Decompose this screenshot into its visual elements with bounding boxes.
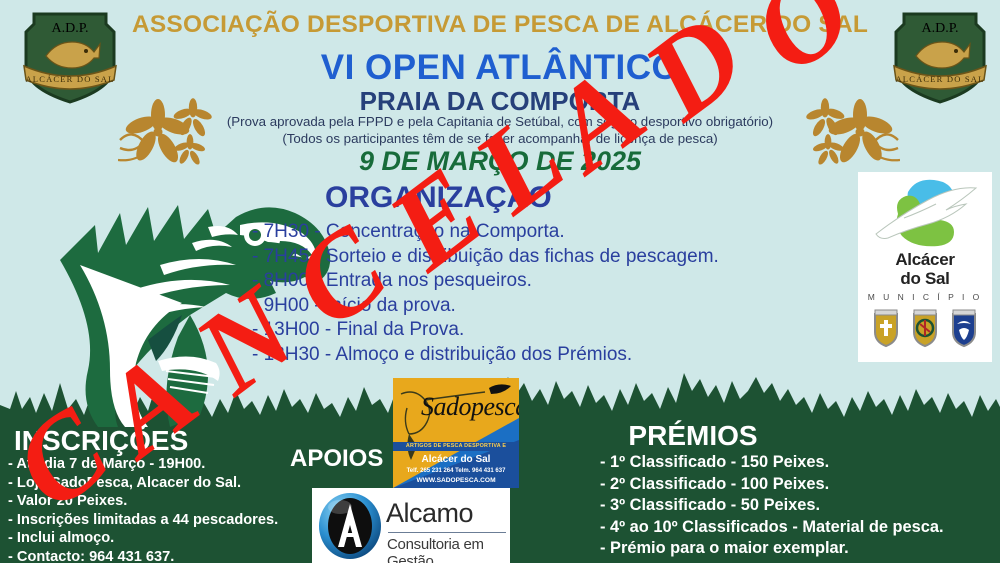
prize-item: - Prémio para o maior exemplar. (600, 538, 1000, 560)
alcamo-divider (388, 532, 506, 533)
event-date: 9 DE MARÇO DE 2025 (0, 146, 1000, 177)
sadopesca-website: WWW.SADOPESCA.COM (393, 477, 519, 484)
schedule-item: - 13H30 - Almoço e distribuição dos Prém… (252, 343, 852, 368)
prize-item: - 2º Classificado - 100 Peixes. (600, 474, 1000, 496)
bird-over-landscape-icon (858, 174, 992, 254)
municipality-logo: Alcácer do Sal M U N I C Í P I O (858, 172, 992, 362)
inscription-item: - Valor 20 Peixes. (8, 492, 298, 511)
municipality-name-line1: Alcácer (858, 250, 992, 269)
alcamo-logo: Alcamo Consultoria em Gestão (312, 488, 510, 563)
license-note: (Todos os participantes têm de se fazer … (0, 131, 1000, 146)
organization-heading: ORGANIZAÇÃO (325, 181, 552, 215)
sadopesca-city: Alcácer do Sal (393, 454, 519, 465)
crest-icon (871, 308, 901, 348)
prizes-list: - 1º Classificado - 150 Peixes. - 2º Cla… (600, 452, 1000, 560)
sadopesca-name: Sadopesca (421, 392, 519, 422)
alcamo-tagline: Consultoria em Gestão (387, 536, 510, 563)
crest-icon (949, 308, 979, 348)
schedule-item: - 8H00 - Entrada nos pesqueiros. (252, 269, 852, 294)
schedule-item: - 9H00 - Início da prova. (252, 294, 852, 319)
association-title: ASSOCIAÇÃO DESPORTIVA DE PESCA DE ALCÁCE… (0, 11, 1000, 39)
alcamo-name: Alcamo (386, 498, 473, 529)
municipality-name-line2: do Sal (858, 269, 992, 288)
crest-icon (910, 308, 940, 348)
approval-note: (Prova aprovada pela FPPD e pela Capitan… (0, 114, 1000, 129)
prizes-heading: PRÉMIOS (193, 420, 1000, 452)
schedule-item: - 7H30 - Concentração na Comporta. (252, 220, 852, 245)
schedule-item: - 7H45 - Sorteio e distribuição das fich… (252, 245, 852, 270)
parish-crests (858, 308, 992, 348)
prize-item: - 1º Classificado - 150 Peixes. (600, 452, 1000, 474)
inscriptions-heading: INSCRIÇÕES (14, 425, 188, 457)
inscription-item: - Contacto: 964 431 637. (8, 548, 298, 563)
organization-schedule: - 7H30 - Concentração na Comporta. - 7H4… (252, 220, 852, 367)
inscription-item: - Até dia 7 de Março - 19H00. (8, 455, 298, 474)
prize-item: - 4º ao 10º Classificados - Material de … (600, 517, 1000, 539)
inscription-item: - Inclui almoço. (8, 529, 298, 548)
inscriptions-list: - Até dia 7 de Março - 19H00. - Loja Sad… (8, 455, 298, 563)
inscription-item: - Inscrições limitadas a 44 pescadores. (8, 511, 298, 530)
sadopesca-phones: Telf. 265 231 264 Telm. 964 431 637 (393, 468, 519, 474)
schedule-item: - 13H00 - Final da Prova. (252, 318, 852, 343)
alcamo-a-sphere-icon (316, 491, 384, 561)
inscription-item: - Loja SadoPesca, Alcacer do Sal. (8, 474, 298, 493)
prize-item: - 3º Classificado - 50 Peixes. (600, 495, 1000, 517)
event-location: PRAIA DA COMPORTA (0, 86, 1000, 117)
event-title: VI OPEN ATLÂNTICO (0, 48, 1000, 88)
poster-canvas: A.D.P. ALCÁCER DO SAL A.D.P. ALCÁCER DO … (0, 0, 1000, 563)
municipality-subtitle: M U N I C Í P I O (858, 292, 992, 302)
municipality-name: Alcácer do Sal (858, 250, 992, 288)
